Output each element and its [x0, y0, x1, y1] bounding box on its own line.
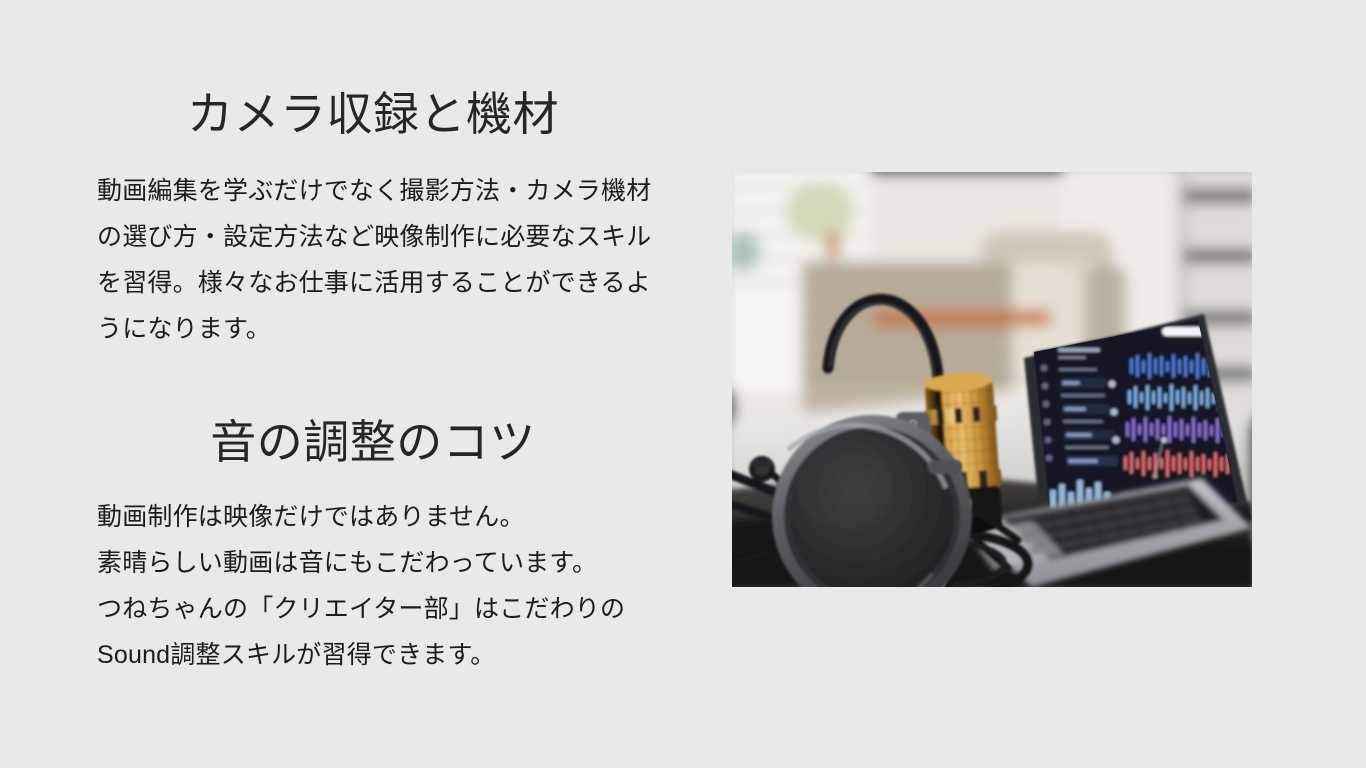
- body-line: Sound調整スキルが習得できます。: [97, 632, 649, 678]
- body-line: うになります。: [97, 306, 649, 352]
- body-line: 動画制作は映像だけではありません。: [97, 494, 649, 540]
- section-body-camera: 動画編集を学ぶだけでなく撮影方法・カメラ機材 の選び方・設定方法など映像制作に必…: [97, 168, 649, 352]
- recording-setup-photo: [732, 172, 1252, 587]
- slide-canvas: カメラ収録と機材 動画編集を学ぶだけでなく撮影方法・カメラ機材 の選び方・設定方…: [0, 0, 1366, 768]
- body-line: 素晴らしい動画は音にもこだわっています。: [97, 540, 649, 586]
- section-heading-camera: カメラ収録と機材: [97, 86, 649, 144]
- body-line: の選び方・設定方法など映像制作に必要なスキル: [97, 214, 649, 260]
- body-line: つねちゃんの「クリエイター部」はこだわりの: [97, 586, 649, 632]
- section-heading-sound: 音の調整のコツ: [97, 414, 649, 472]
- text-column: カメラ収録と機材 動画編集を学ぶだけでなく撮影方法・カメラ機材 の選び方・設定方…: [97, 86, 649, 678]
- body-line: 動画編集を学ぶだけでなく撮影方法・カメラ機材: [97, 168, 649, 214]
- section-body-sound: 動画制作は映像だけではありません。 素晴らしい動画は音にもこだわっています。 つ…: [97, 494, 649, 678]
- body-line: を習得。様々なお仕事に活用することができるよ: [97, 260, 649, 306]
- photo-illustration: [732, 172, 1252, 587]
